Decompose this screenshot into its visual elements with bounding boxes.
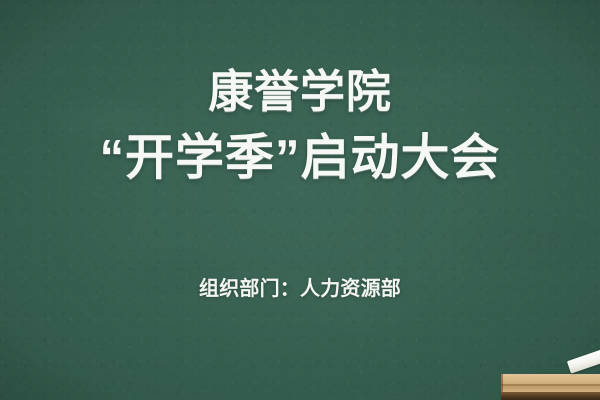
slide-title-line-1: 康誉学院 [0, 69, 600, 114]
chalk-ledge-front-face [501, 379, 600, 392]
presentation-slide: 康誉学院 “开学季”启动大会 组织部门：人力资源部 [0, 0, 600, 400]
chalk-ledge-groove [501, 384, 600, 386]
chalk-ledge-base-shadow [501, 392, 600, 400]
chalk-ledge-icon [501, 374, 600, 400]
slide-title-line-2: “开学季”启动大会 [0, 134, 600, 183]
slide-content: 康誉学院 “开学季”启动大会 组织部门：人力资源部 [0, 0, 600, 400]
slide-subtitle-organizing-department: 组织部门：人力资源部 [0, 277, 600, 301]
chalk-ledge-left-edge [501, 374, 503, 392]
